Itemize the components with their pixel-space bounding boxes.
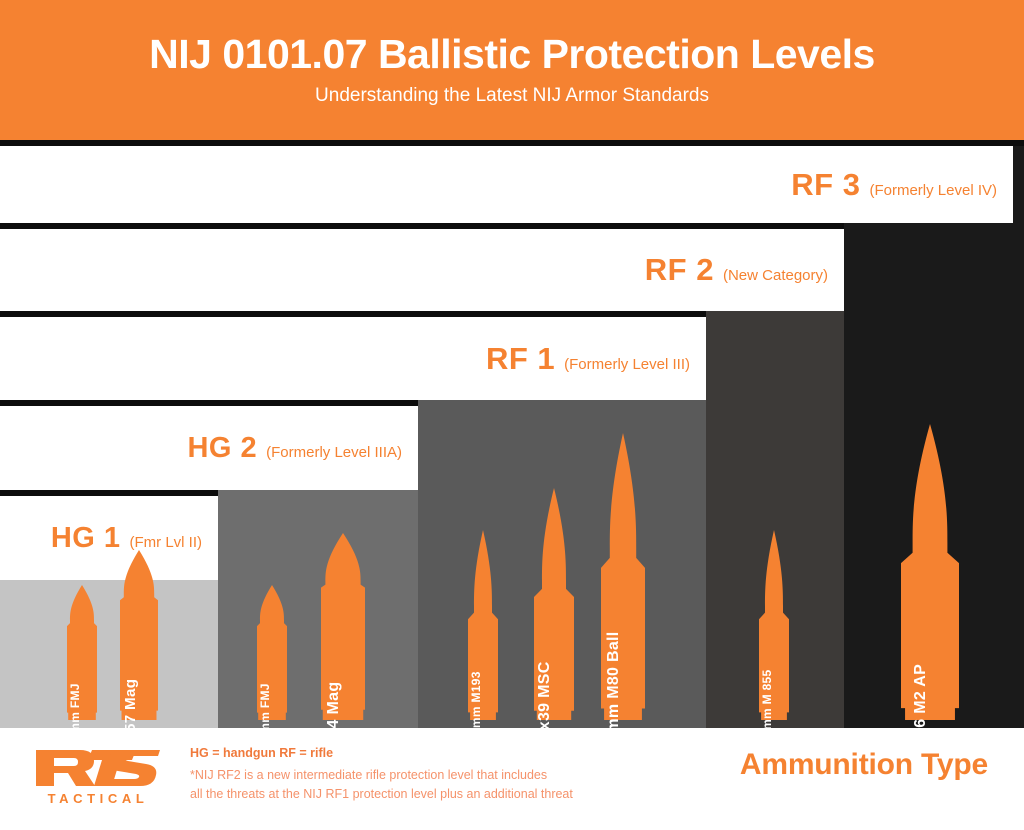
rts-logo-icon (32, 744, 164, 790)
cartridge-hg2-0: 9mm FMJ (257, 585, 287, 720)
cartridge-icon (901, 424, 959, 720)
level-note-rf2: (New Category) (723, 267, 828, 284)
cartridge-icon (601, 433, 645, 720)
staircase-chart: RF 3 (Formerly Level IV) RF 2 (New Categ… (0, 140, 1024, 728)
footer-notes: HG = handgun RF = rifle *NIJ RF2 is a ne… (190, 746, 620, 805)
level-code-rf3: RF 3 (791, 167, 860, 203)
page-subtitle: Understanding the Latest NIJ Armor Stand… (315, 85, 709, 107)
level-code-rf1: RF 1 (486, 341, 555, 377)
cartridge-rf3-0: 30.06 M2 AP (901, 424, 959, 720)
cartridge-rf1-2: 7.62x51mm M80 Ball (601, 433, 645, 720)
cartridge-icon (534, 488, 574, 720)
cartridge-icon (257, 585, 287, 720)
cartridge-hg1-0: 9mm FMJ (67, 585, 97, 720)
legend-key: HG = handgun RF = rifle (190, 746, 620, 760)
level-band-rf3: RF 3 (Formerly Level IV) (0, 146, 1013, 223)
level-note-rf1: (Formerly Level III) (564, 356, 690, 373)
level-code-hg2: HG 2 (187, 432, 257, 465)
level-band-rf1: RF 1 (Formerly Level III) (0, 317, 706, 400)
level-band-hg1: HG 1 (Fmr Lvl II) (0, 496, 218, 580)
cartridge-rf1-1: 7.62x39 MSC (534, 488, 574, 720)
x-axis-title: Ammunition Type (740, 748, 988, 782)
level-note-hg2: (Formerly Level IIIA) (266, 444, 402, 461)
cartridge-icon (759, 530, 789, 720)
infographic-page: NIJ 0101.07 Ballistic Protection Levels … (0, 0, 1024, 830)
cartridge-rf2-0: 5.56mm M 855 (759, 530, 789, 720)
footnote-line-2: all the threats at the NIJ RF1 protectio… (190, 785, 620, 804)
page-title: NIJ 0101.07 Ballistic Protection Levels (149, 33, 875, 76)
cartridge-hg1-1: .357 Mag (120, 550, 158, 720)
cartridge-rf1-0: 5.56mm M193 (468, 530, 498, 720)
level-note-hg1: (Fmr Lvl II) (130, 534, 203, 551)
level-band-hg2: HG 2 (Formerly Level IIIA) (0, 406, 418, 490)
cartridge-icon (120, 550, 158, 720)
rts-tactical-logo: TACTICAL (28, 744, 168, 810)
header-banner: NIJ 0101.07 Ballistic Protection Levels … (0, 0, 1024, 140)
cartridge-hg2-1: .44 Mag (321, 533, 365, 720)
level-code-rf2: RF 2 (645, 252, 714, 288)
footnote-line-1: *NIJ RF2 is a new intermediate rifle pro… (190, 766, 620, 785)
level-band-rf2: RF 2 (New Category) (0, 229, 844, 311)
cartridge-icon (468, 530, 498, 720)
cartridge-icon (321, 533, 365, 720)
cartridge-icon (67, 585, 97, 720)
logo-wordmark: TACTICAL (48, 791, 149, 806)
level-code-hg1: HG 1 (51, 522, 121, 555)
level-note-rf3: (Formerly Level IV) (869, 182, 997, 199)
